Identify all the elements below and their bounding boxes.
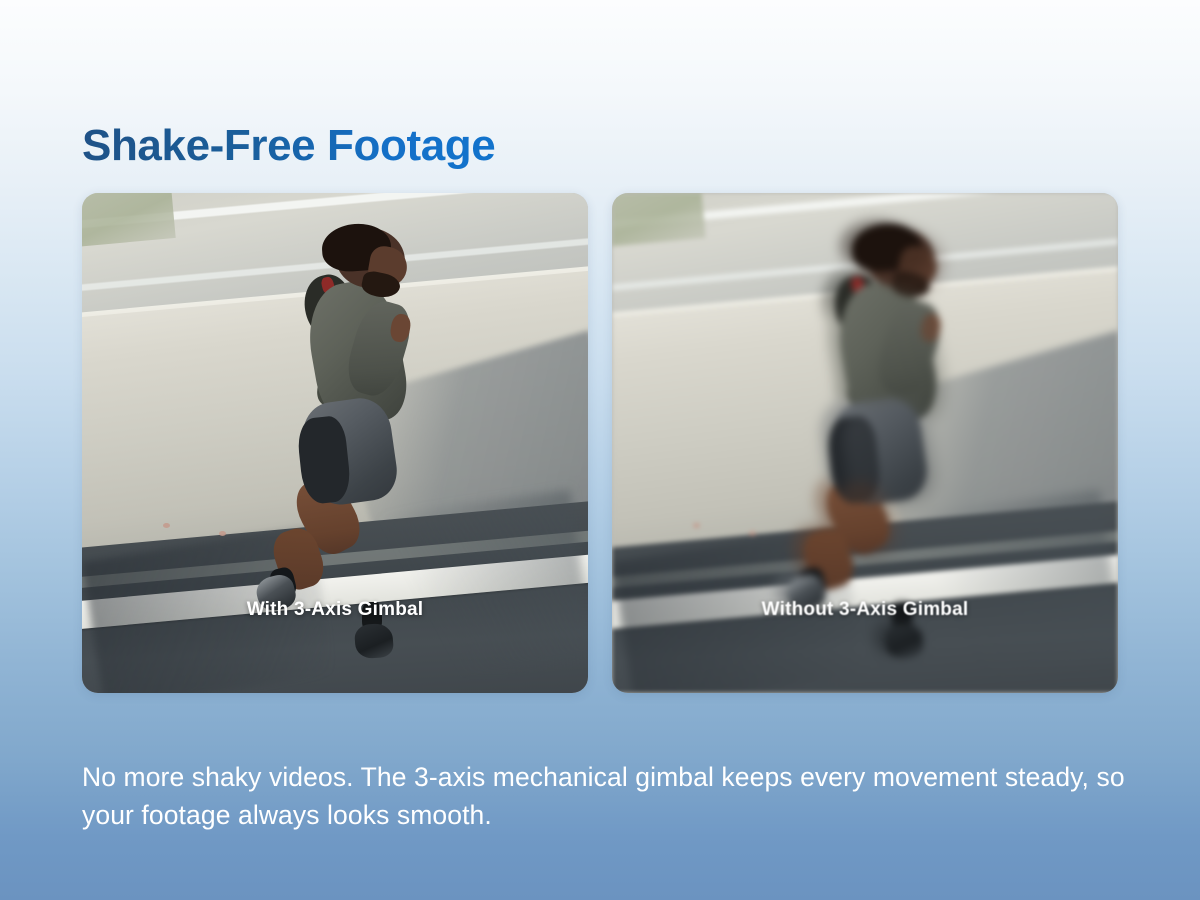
comparison-panel-shaky[interactable]: Without 3-Axis Gimbal <box>612 193 1118 693</box>
runner-figure-ghost <box>823 231 995 661</box>
pebble <box>219 531 226 536</box>
runner-figure <box>284 228 456 658</box>
panel-caption-shaky: Without 3-Axis Gimbal <box>612 599 1118 621</box>
pebble <box>163 523 170 528</box>
comparison-panels: With 3-Axis Gimbal <box>82 193 1118 693</box>
body-text: No more shaky videos. The 3-axis mechani… <box>82 758 1142 834</box>
feature-slide: Shake-Free Footage <box>0 0 1200 900</box>
comparison-panel-stabilized[interactable]: With 3-Axis Gimbal <box>82 193 588 693</box>
runner-front-shoe <box>354 622 394 659</box>
panel-caption-stabilized: With 3-Axis Gimbal <box>82 599 588 621</box>
page-title: Shake-Free Footage <box>82 117 495 175</box>
